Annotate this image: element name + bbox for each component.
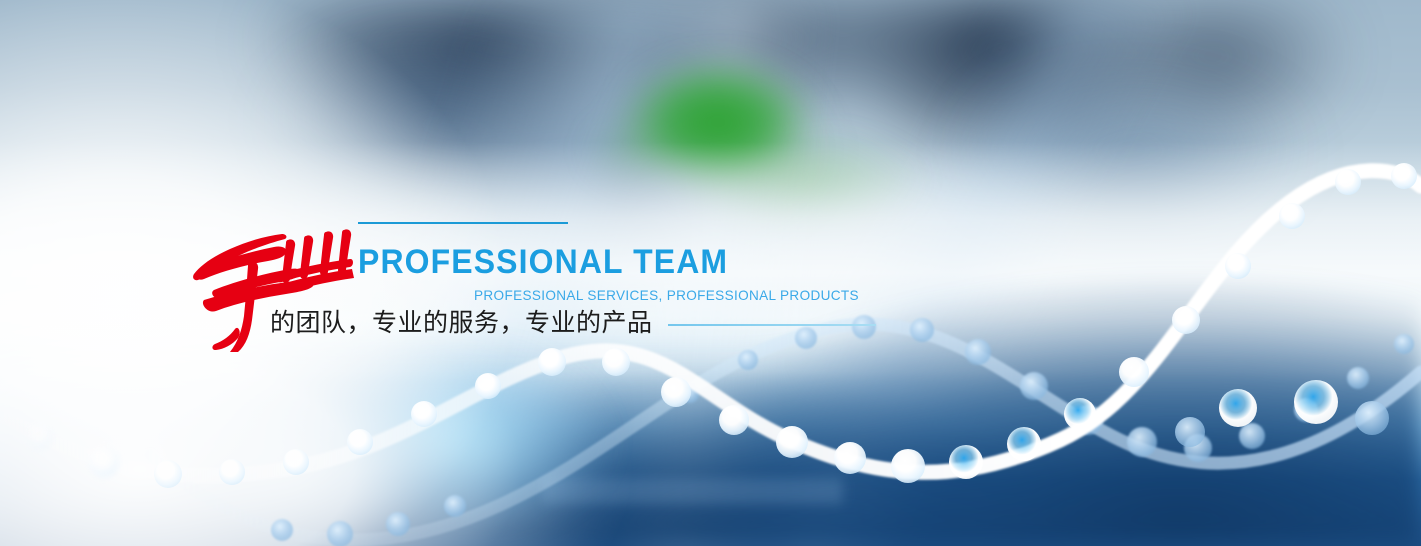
chinese-tagline: 的团队，专业的服务，专业的产品 <box>270 306 653 340</box>
bottom-accent-rule <box>668 324 876 326</box>
page-title: PROFESSIONAL TEAM <box>358 242 728 282</box>
page-subtitle: PROFESSIONAL SERVICES, PROFESSIONAL PROD… <box>474 286 859 304</box>
hero-banner: PROFESSIONAL TEAM PROFESSIONAL SERVICES,… <box>0 0 1421 546</box>
banner-content: PROFESSIONAL TEAM PROFESSIONAL SERVICES,… <box>0 0 1421 546</box>
top-accent-rule <box>358 222 568 224</box>
